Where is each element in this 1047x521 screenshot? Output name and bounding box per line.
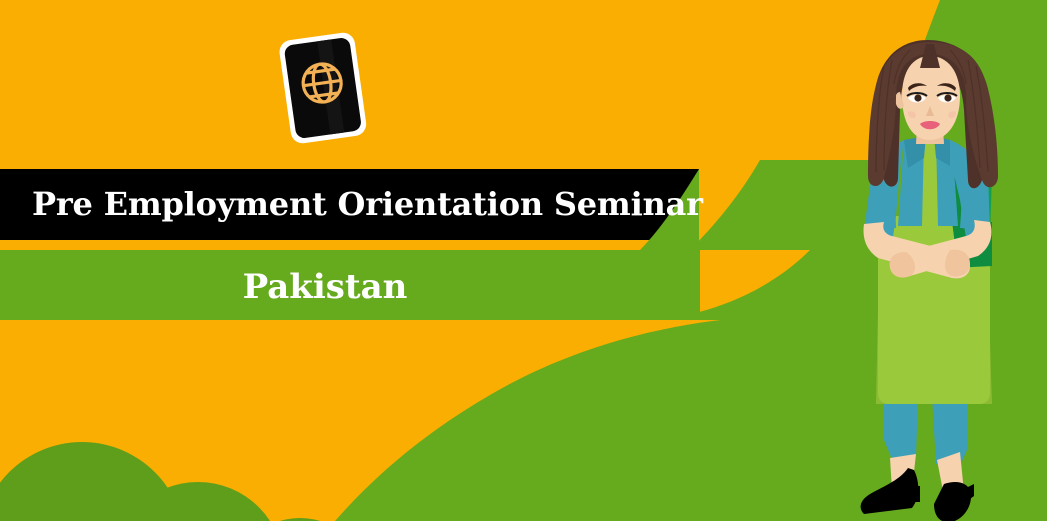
seminar-banner: Pre Employment Orientation Seminar Pakis… bbox=[0, 0, 1047, 521]
leg-left-trouser bbox=[884, 396, 918, 464]
woman-illustration bbox=[840, 40, 1030, 521]
pupil-left bbox=[914, 94, 921, 101]
title-bar-underline bbox=[0, 240, 699, 250]
shoe-left bbox=[861, 468, 919, 514]
subtitle-country: Pakistan bbox=[0, 266, 650, 308]
pupil-right bbox=[944, 94, 951, 101]
page-title: Pre Employment Orientation Seminar bbox=[32, 182, 703, 226]
passport-icon bbox=[276, 30, 370, 148]
shoe-right bbox=[934, 482, 971, 521]
